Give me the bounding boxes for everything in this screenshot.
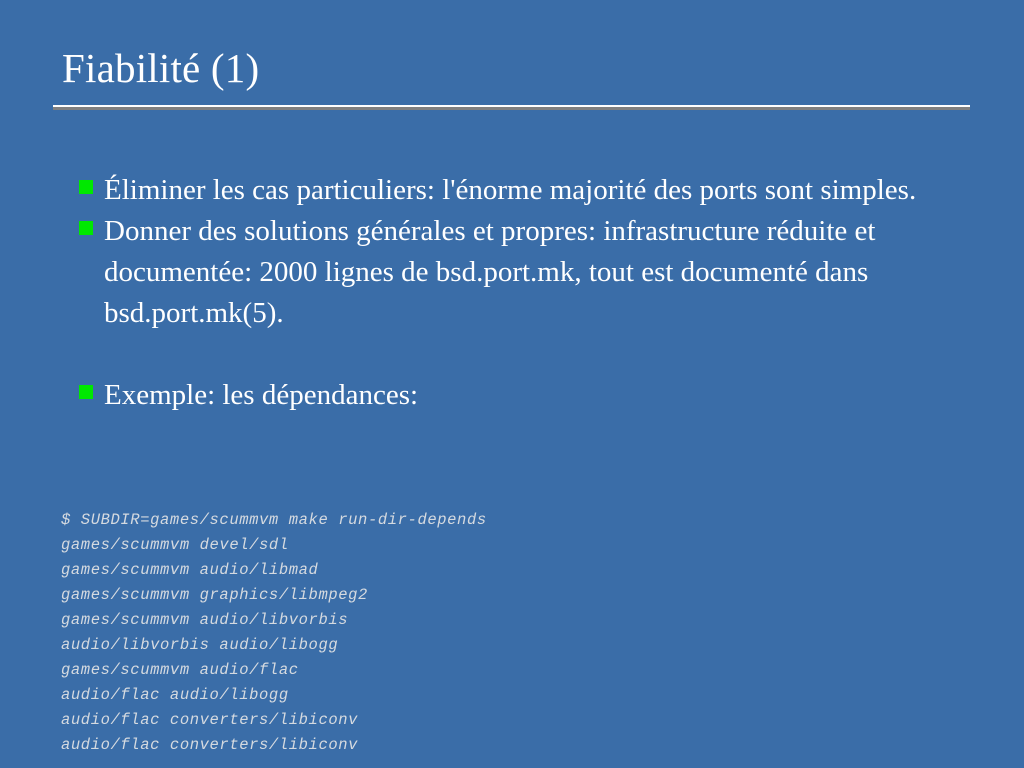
slide-header: Fiabilité (1) xyxy=(53,44,970,110)
list-spacer xyxy=(79,334,979,375)
terminal-output: $ SUBDIR=games/scummvm make run-dir-depe… xyxy=(61,508,961,758)
terminal-line: games/scummvm audio/libmad xyxy=(61,558,961,583)
square-bullet-icon xyxy=(79,180,93,194)
terminal-line: audio/flac audio/libogg xyxy=(61,683,961,708)
square-bullet-icon xyxy=(79,221,93,235)
terminal-line: audio/flac converters/libiconv xyxy=(61,708,961,733)
terminal-line: games/scummvm audio/libvorbis xyxy=(61,608,961,633)
list-item-label: Éliminer les cas particuliers: l'énorme … xyxy=(104,170,949,211)
terminal-line: audio/flac converters/libiconv xyxy=(61,733,961,758)
presentation-slide: Fiabilité (1) Éliminer les cas particuli… xyxy=(0,0,1024,768)
title-divider xyxy=(53,105,970,110)
list-item: Éliminer les cas particuliers: l'énorme … xyxy=(79,170,979,211)
list-item: Exemple: les dépendances: xyxy=(79,375,979,416)
terminal-line: audio/libvorbis audio/libogg xyxy=(61,633,961,658)
terminal-line: $ SUBDIR=games/scummvm make run-dir-depe… xyxy=(61,508,961,533)
terminal-line: games/scummvm devel/sdl xyxy=(61,533,961,558)
list-item-label: Donner des solutions générales et propre… xyxy=(104,211,949,334)
square-bullet-icon xyxy=(79,385,93,399)
list-item: Donner des solutions générales et propre… xyxy=(79,211,979,334)
terminal-line: games/scummvm graphics/libmpeg2 xyxy=(61,583,961,608)
page-title: Fiabilité (1) xyxy=(53,44,970,92)
list-item-label: Exemple: les dépendances: xyxy=(104,375,949,416)
terminal-line: games/scummvm audio/flac xyxy=(61,658,961,683)
bullet-list: Éliminer les cas particuliers: l'énorme … xyxy=(79,170,979,416)
